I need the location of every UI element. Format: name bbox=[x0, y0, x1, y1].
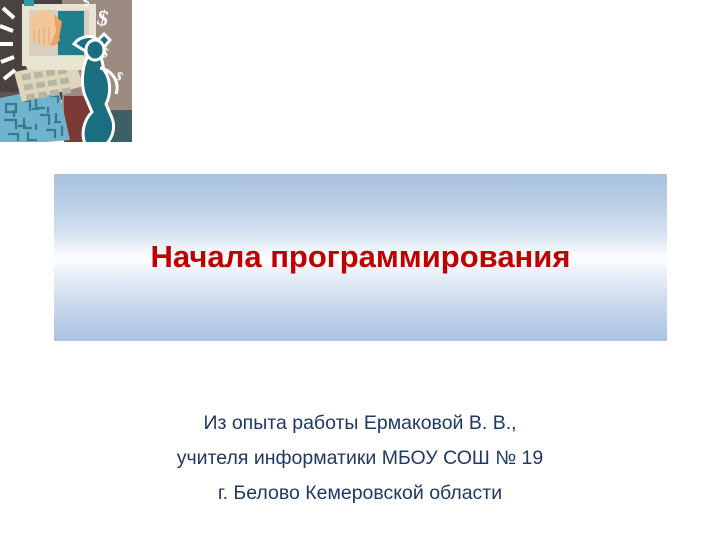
subtitle-block: Из опыта работы Ермаковой В. В., учителя… bbox=[60, 406, 660, 511]
page-title: Начала программирования bbox=[151, 240, 571, 274]
subtitle-line-1: Из опыта работы Ермаковой В. В., bbox=[60, 406, 660, 441]
slide-canvas: $ $ $ $ Начала программирования Из опыта… bbox=[0, 0, 720, 540]
subtitle-line-3: г. Белово Кемеровской области bbox=[60, 476, 660, 511]
computer-illustration: $ $ $ $ bbox=[0, 0, 132, 146]
title-band: Начала программирования bbox=[54, 174, 667, 341]
subtitle-line-2: учителя информатики МБОУ СОШ № 19 bbox=[60, 441, 660, 476]
computer-illustration-graphic: $ $ $ $ bbox=[0, 0, 132, 146]
